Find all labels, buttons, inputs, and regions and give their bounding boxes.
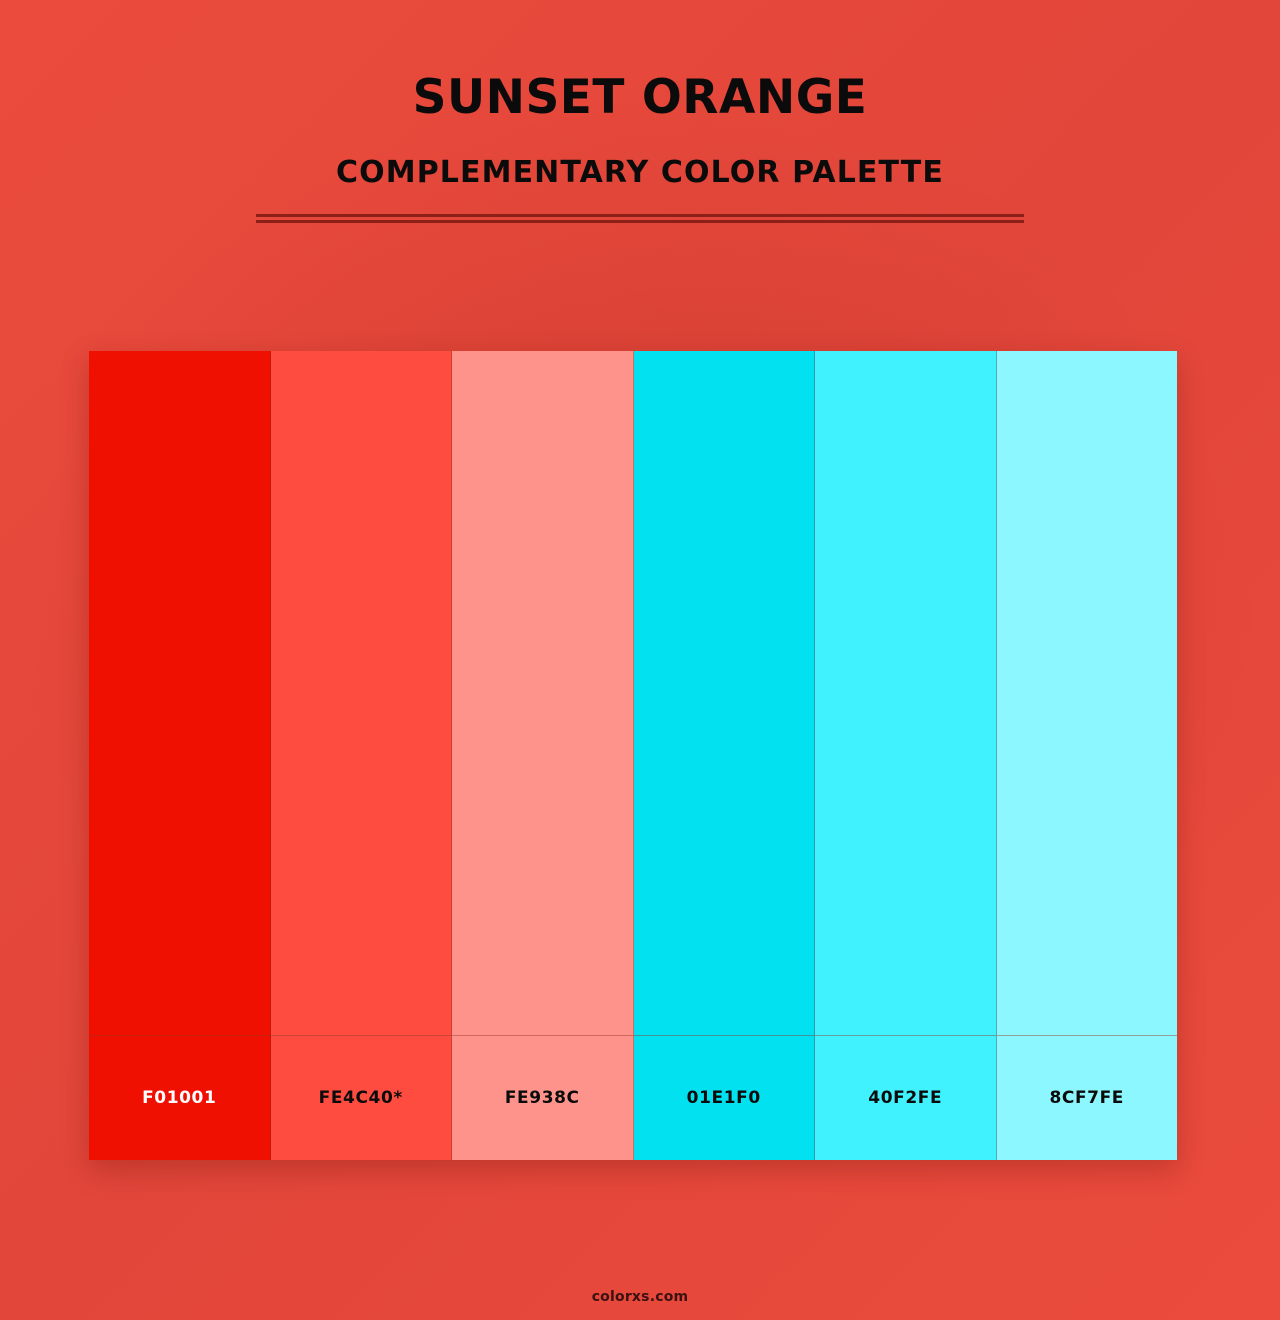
- page-footer: colorxs.com: [0, 1286, 1280, 1305]
- swatch-hex-label: FE938C: [505, 1088, 580, 1108]
- color-swatch[interactable]: FE938C: [452, 351, 634, 1160]
- color-swatch[interactable]: 40F2FE: [815, 351, 997, 1160]
- swatch-color-area[interactable]: [997, 351, 1178, 1035]
- swatch-hex-label: 01E1F0: [687, 1088, 761, 1108]
- divider-line-bottom: [256, 220, 1024, 223]
- swatch-label-zone: 8CF7FE: [997, 1035, 1178, 1160]
- swatch-color-area[interactable]: [271, 351, 452, 1035]
- swatch-label-zone: FE938C: [452, 1035, 633, 1160]
- header-divider: [256, 214, 1024, 223]
- swatch-label-zone: 01E1F0: [634, 1035, 815, 1160]
- color-swatch[interactable]: 8CF7FE: [997, 351, 1178, 1160]
- page-subtitle: COMPLEMENTARY COLOR PALETTE: [0, 158, 1280, 188]
- swatch-label-zone: 40F2FE: [815, 1035, 996, 1160]
- swatch-label-zone: FE4C40*: [271, 1035, 452, 1160]
- color-swatch[interactable]: 01E1F0: [634, 351, 816, 1160]
- page-header: SUNSET ORANGE COMPLEMENTARY COLOR PALETT…: [0, 0, 1280, 223]
- swatch-hex-label: FE4C40*: [319, 1088, 403, 1108]
- swatch-hex-label: F01001: [142, 1088, 216, 1108]
- site-credit: colorxs.com: [592, 1289, 689, 1305]
- color-swatch[interactable]: FE4C40*: [271, 351, 453, 1160]
- palette-page: SUNSET ORANGE COMPLEMENTARY COLOR PALETT…: [0, 0, 1280, 1320]
- color-swatch[interactable]: F01001: [89, 351, 271, 1160]
- swatch-color-area[interactable]: [452, 351, 633, 1035]
- swatch-hex-label: 8CF7FE: [1049, 1088, 1124, 1108]
- swatch-color-area[interactable]: [815, 351, 996, 1035]
- swatch-color-area[interactable]: [89, 351, 270, 1035]
- swatch-color-area[interactable]: [634, 351, 815, 1035]
- page-title: SUNSET ORANGE: [0, 74, 1280, 121]
- swatch-label-zone: F01001: [89, 1035, 270, 1160]
- swatch-hex-label: 40F2FE: [868, 1088, 942, 1108]
- color-palette: F01001 FE4C40* FE938C 01E1F0 40F2FE: [89, 351, 1177, 1160]
